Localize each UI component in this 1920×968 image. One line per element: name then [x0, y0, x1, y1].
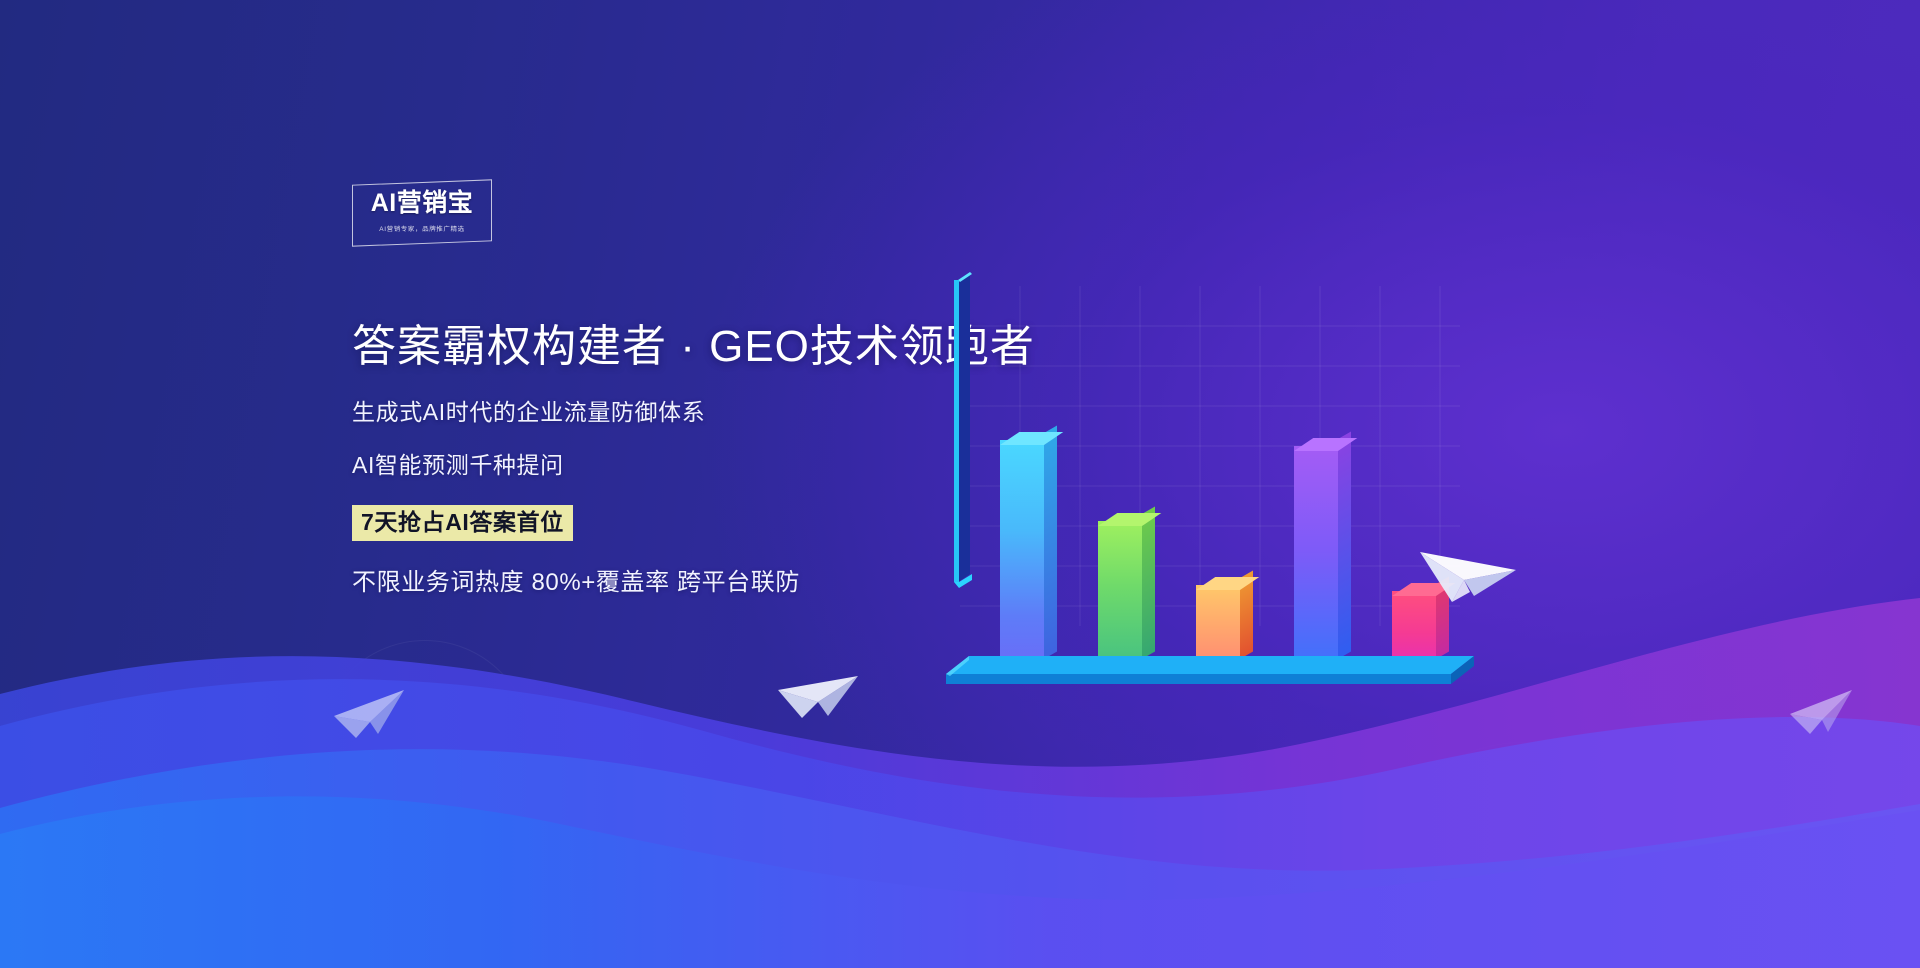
- paper-plane-icon-right: [1412, 518, 1522, 610]
- hero-subline-3: 不限业务词热度 80%+覆盖率 跨平台联防: [352, 571, 1035, 595]
- logo-tagline: AI营销专家，品牌推广精选: [352, 223, 492, 233]
- bar-chart: [960, 286, 1460, 666]
- hero-highlight-badge: 7天抢占AI答案首位: [352, 505, 573, 541]
- bar-side: [1044, 425, 1057, 659]
- chart-bar-2: [1098, 521, 1142, 666]
- hero-subline-1: 生成式AI时代的企业流量防御体系: [352, 401, 1035, 424]
- bar-face: [1098, 521, 1142, 666]
- page-title: 答案霸权构建者 · GEO技术领跑者: [352, 322, 1035, 373]
- chart-y-axis: [948, 272, 988, 592]
- paper-plane-icon-center: [772, 648, 868, 730]
- chart-base: [946, 646, 1476, 692]
- bar-face: [1000, 440, 1044, 666]
- chart-bar-1: [1000, 440, 1044, 666]
- paper-plane-icon-far-right: [1786, 676, 1864, 744]
- hero-copy: 答案霸权构建者 · GEO技术领跑者 生成式AI时代的企业流量防御体系 AI智能…: [352, 322, 1035, 595]
- bar-side: [1338, 431, 1351, 659]
- wave-layer-accent: [0, 738, 1920, 968]
- paper-plane-icon-left: [330, 672, 418, 748]
- bar-side: [1142, 506, 1155, 659]
- hero-subline-2: AI智能预测千种提问: [352, 454, 1035, 477]
- brand-logo[interactable]: AI营销宝 AI营销专家，品牌推广精选: [352, 182, 492, 244]
- chart-bar-4: [1294, 446, 1338, 666]
- hero-banner: AI营销宝 AI营销专家，品牌推广精选 答案霸权构建者 · GEO技术领跑者 生…: [0, 0, 1920, 968]
- hero-highlight-wrap: 7天抢占AI答案首位: [352, 505, 1035, 541]
- logo-wordmark: AI营销宝: [352, 191, 492, 216]
- bar-face: [1294, 446, 1338, 666]
